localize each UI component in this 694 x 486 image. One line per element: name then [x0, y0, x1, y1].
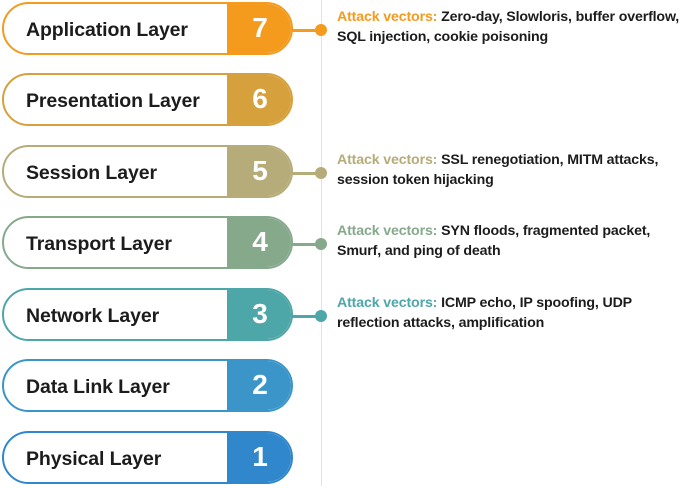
osi-layer-diagram: Application Layer7Presentation Layer6Ses… — [0, 0, 694, 486]
layer-number: 4 — [252, 228, 268, 258]
layer-number-cap: 3 — [227, 288, 293, 341]
connector-dot-4 — [315, 238, 327, 250]
attack-vector-annotation-7: Attack vectors: Zero-day, Slowloris, buf… — [337, 8, 687, 47]
attack-vectors-label: Attack vectors: — [337, 223, 437, 239]
connector-dot-5 — [315, 167, 327, 179]
layer-number-cap: 6 — [227, 73, 293, 126]
attack-vectors-label: Attack vectors: — [337, 295, 437, 311]
layer-name-label: Network Layer — [26, 290, 159, 341]
layer-number-cap: 4 — [227, 216, 293, 269]
layer-pill-3[interactable]: Network Layer3 — [2, 288, 293, 341]
layer-number-cap: 1 — [227, 431, 293, 484]
layer-number: 1 — [252, 443, 268, 473]
layer-pill-7[interactable]: Application Layer7 — [2, 2, 293, 55]
attack-vector-annotation-5: Attack vectors: SSL renegotiation, MITM … — [337, 151, 687, 190]
layer-row: Physical Layer1 — [0, 431, 694, 484]
layer-pill-4[interactable]: Transport Layer4 — [2, 216, 293, 269]
layer-number: 7 — [252, 14, 268, 44]
layer-name-label: Presentation Layer — [26, 75, 200, 126]
layer-number: 3 — [252, 300, 268, 330]
connector-dot-3 — [315, 310, 327, 322]
connector-dot-7 — [315, 24, 327, 36]
layer-number: 5 — [252, 157, 268, 187]
layer-name-label: Transport Layer — [26, 218, 172, 269]
layer-name-label: Physical Layer — [26, 433, 161, 484]
layer-row: Presentation Layer6 — [0, 73, 694, 126]
layer-number: 6 — [252, 85, 268, 115]
layer-number-cap: 2 — [227, 359, 293, 412]
layer-number-cap: 5 — [227, 145, 293, 198]
attack-vectors-label: Attack vectors: — [337, 152, 437, 168]
layer-name-label: Data Link Layer — [26, 361, 170, 412]
layer-pill-5[interactable]: Session Layer5 — [2, 145, 293, 198]
attack-vector-annotation-4: Attack vectors: SYN floods, fragmented p… — [337, 222, 687, 261]
layer-pill-6[interactable]: Presentation Layer6 — [2, 73, 293, 126]
attack-vector-annotation-3: Attack vectors: ICMP echo, IP spoofing, … — [337, 294, 687, 333]
layer-name-label: Session Layer — [26, 147, 157, 198]
attack-vectors-label: Attack vectors: — [337, 9, 437, 25]
layer-pill-1[interactable]: Physical Layer1 — [2, 431, 293, 484]
layer-number: 2 — [252, 371, 268, 401]
layer-name-label: Application Layer — [26, 4, 188, 55]
layer-row: Data Link Layer2 — [0, 359, 694, 412]
layer-pill-2[interactable]: Data Link Layer2 — [2, 359, 293, 412]
layer-number-cap: 7 — [227, 2, 293, 55]
